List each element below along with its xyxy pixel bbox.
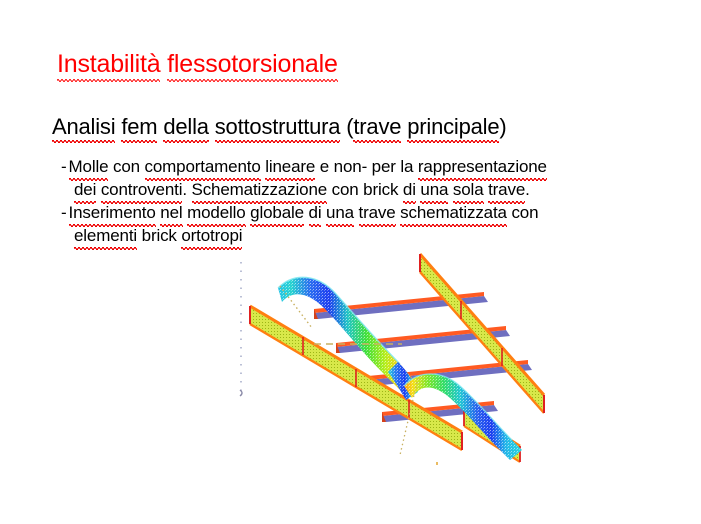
slide-canvas: Instabilità flessotorsionale Analisi fem… xyxy=(0,0,701,524)
fem-buckling-analysis-render xyxy=(232,250,552,465)
bullet-1-line-1: -Molle con comportamento lineare e non- … xyxy=(61,155,547,178)
section-subtitle: Analisi fem della sottostruttura (trave … xyxy=(52,113,507,140)
text-run: . xyxy=(182,180,191,199)
bullet-2-line-2: elementi brick ortotropi xyxy=(61,224,547,247)
text-run: brick xyxy=(137,226,181,245)
misspelled-word: fem xyxy=(121,113,157,140)
misspelled-word: Analisi xyxy=(52,113,115,140)
misspelled-word: nel xyxy=(160,201,182,224)
bullet-1-line-2-text: dei controventi. Schematizzazione con br… xyxy=(74,180,530,199)
misspelled-word: dei xyxy=(74,178,96,201)
fem-figure-svg xyxy=(232,250,552,465)
misspelled-word: di xyxy=(309,201,322,224)
bullet-2-line-1: -Inserimento nel modello globale di una … xyxy=(61,201,547,224)
misspelled-word: Molle xyxy=(69,155,109,178)
text-run: con xyxy=(507,203,539,222)
misspelled-word: controventi xyxy=(101,178,183,201)
misspelled-word: trave xyxy=(488,178,525,201)
misspelled-word: modello xyxy=(187,201,245,224)
bullet-list: -Molle con comportamento lineare e non- … xyxy=(61,155,547,247)
misspelled-word: una xyxy=(326,201,354,224)
page-title: Instabilità flessotorsionale xyxy=(57,49,338,79)
text-run: con xyxy=(108,157,144,176)
misspelled-word: globale xyxy=(250,201,304,224)
misspelled-word: Schematizzazione xyxy=(192,178,328,201)
misspelled-word: elementi xyxy=(74,224,137,247)
misspelled-word: sottostruttura xyxy=(215,113,341,140)
misspelled-word: di xyxy=(403,178,416,201)
misspelled-word: trave xyxy=(353,113,401,140)
text-run: ) xyxy=(499,114,506,139)
misspelled-word: trave xyxy=(359,201,396,224)
misspelled-word: lineare xyxy=(265,155,315,178)
bullet-2-line-1-text: Inserimento nel modello globale di una t… xyxy=(69,203,539,222)
title-word: Instabilità xyxy=(57,49,160,79)
misspelled-word: Inserimento xyxy=(69,201,156,224)
bullet-1-line-2: dei controventi. Schematizzazione con br… xyxy=(61,178,547,201)
misspelled-word: della xyxy=(163,113,208,140)
misspelled-word: ortotropi xyxy=(181,224,242,247)
misspelled-word: sola xyxy=(453,178,484,201)
bullet-marker: - xyxy=(61,201,69,224)
bullet-1-line-1-text: Molle con comportamento lineare e non- p… xyxy=(69,157,547,176)
title-word: flessotorsionale xyxy=(167,49,338,79)
text-run: e non- per la xyxy=(315,157,418,176)
misspelled-word: schematizzata xyxy=(400,201,507,224)
text-run: . xyxy=(525,180,530,199)
text-run: ( xyxy=(340,114,353,139)
text-run: con brick xyxy=(327,180,403,199)
misspelled-word: principale xyxy=(407,113,499,140)
bullet-marker: - xyxy=(61,155,69,178)
misspelled-word: rappresentazione xyxy=(418,155,547,178)
misspelled-word: comportamento xyxy=(145,155,261,178)
misspelled-word: una xyxy=(420,178,448,201)
bullet-2-line-2-text: elementi brick ortotropi xyxy=(74,226,242,245)
title-space xyxy=(160,50,167,78)
